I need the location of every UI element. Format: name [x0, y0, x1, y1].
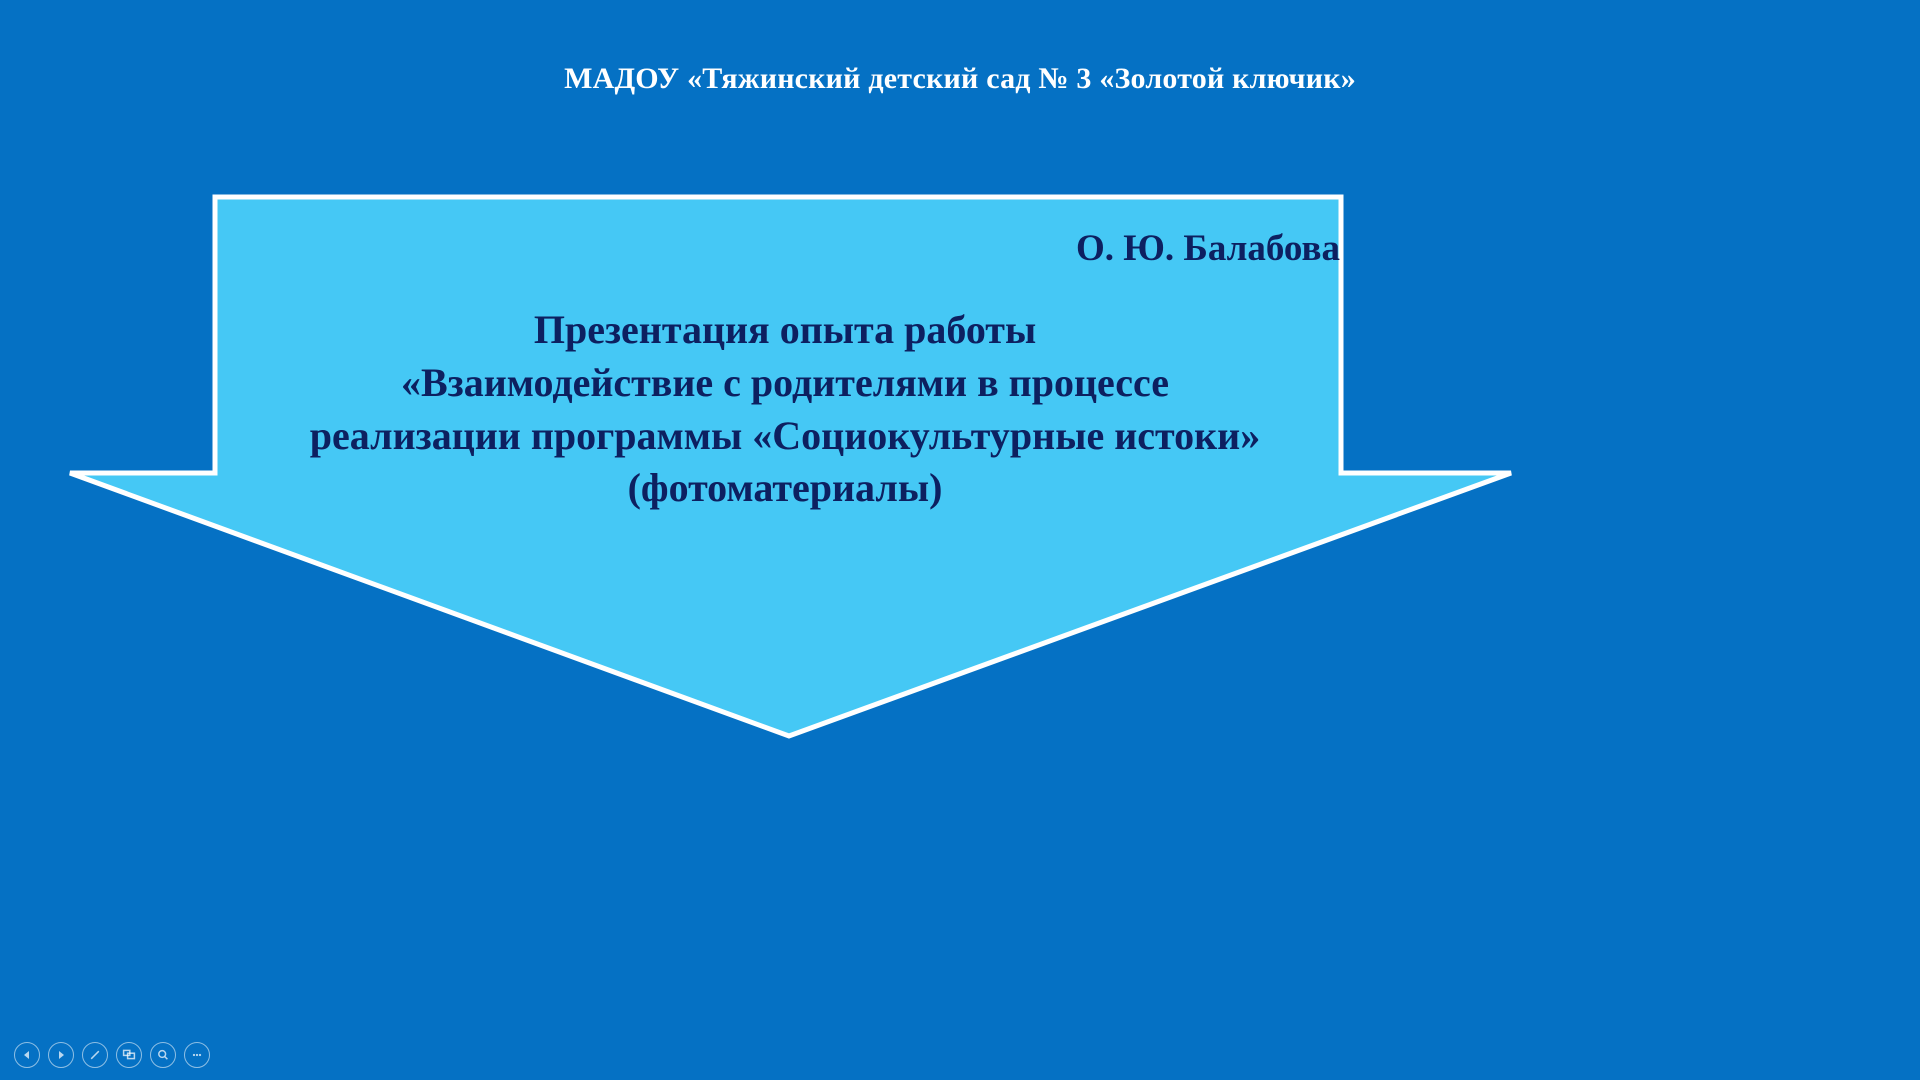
title-line-3: реализации программы «Социокультурные ис…	[90, 410, 1480, 463]
author-name: О. Ю. Балабова	[230, 228, 1340, 271]
pen-tool-button[interactable]	[82, 1042, 108, 1068]
magnifier-icon	[156, 1048, 170, 1062]
slide-header-title: МАДОУ «Тяжинский детский сад № 3 «Золото…	[0, 62, 1920, 95]
presentation-slide: МАДОУ «Тяжинский детский сад № 3 «Золото…	[0, 0, 1920, 1080]
triangle-left-icon	[21, 1049, 33, 1061]
title-line-4: (фотоматериалы)	[90, 462, 1480, 515]
slide-overview-button[interactable]	[116, 1042, 142, 1068]
viewer-toolbar	[14, 1038, 210, 1072]
ellipsis-icon	[190, 1048, 204, 1062]
more-options-button[interactable]	[184, 1042, 210, 1068]
slide-title-block: Презентация опыта работы «Взаимодействие…	[90, 304, 1480, 515]
previous-slide-button[interactable]	[14, 1042, 40, 1068]
arrow-text-layer: О. Ю. Балабова Презентация опыта работы …	[230, 200, 1340, 620]
title-line-2: «Взаимодействие с родителями в процессе	[90, 357, 1480, 410]
pen-icon	[88, 1048, 102, 1062]
next-slide-button[interactable]	[48, 1042, 74, 1068]
zoom-button[interactable]	[150, 1042, 176, 1068]
grid-slides-icon	[122, 1048, 136, 1062]
triangle-right-icon	[55, 1049, 67, 1061]
title-line-1: Презентация опыта работы	[90, 304, 1480, 357]
